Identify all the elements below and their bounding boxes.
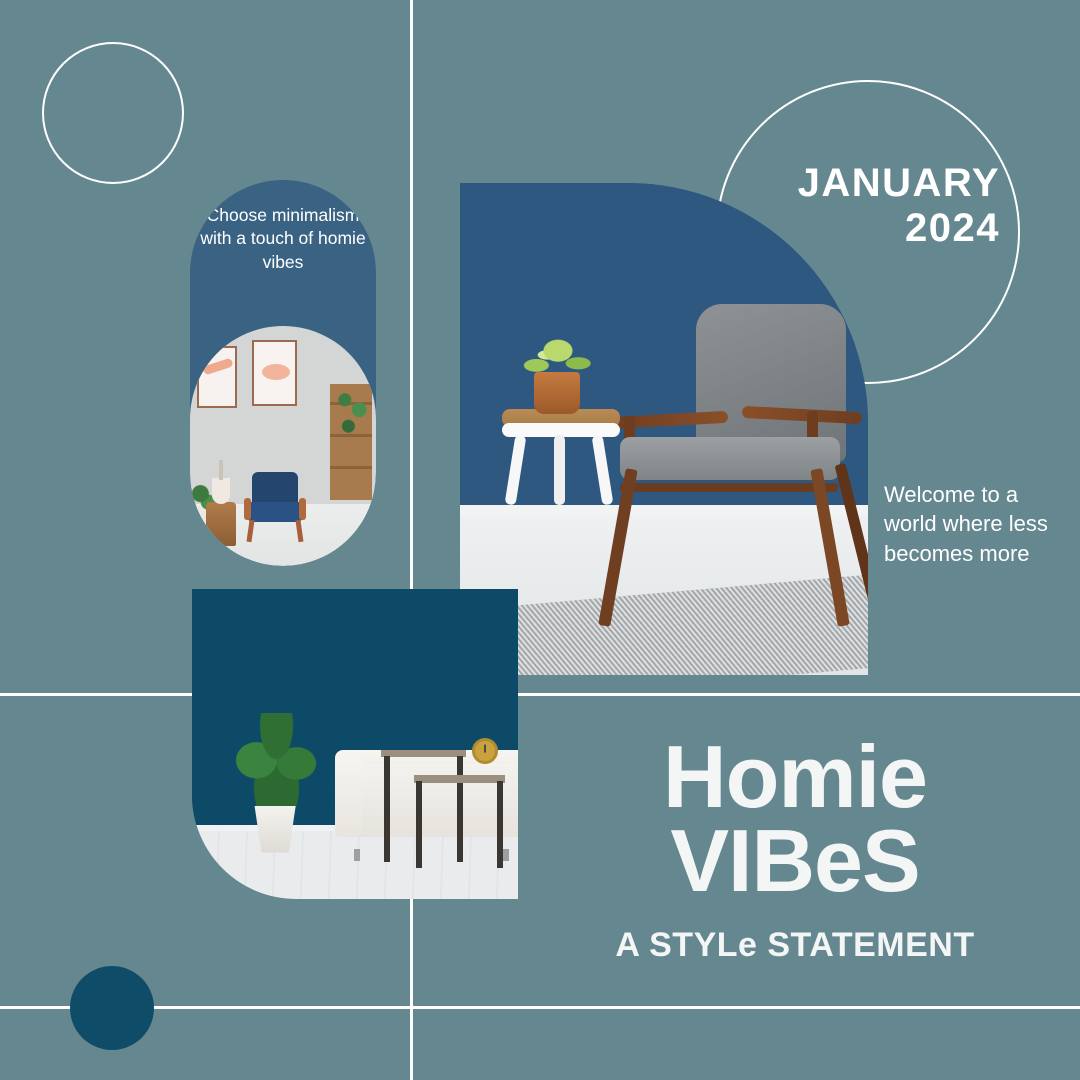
title-line-1: Homie <box>560 735 1030 819</box>
sofa-arm-left <box>335 752 361 837</box>
sofa-leg-left <box>354 849 360 861</box>
horizontal-divider-line-bottom <box>0 1006 1080 1009</box>
armchair-cushion <box>620 437 840 480</box>
armchair-leg-left <box>246 520 254 542</box>
stool-leg-1 <box>505 435 527 506</box>
flower-vase <box>212 478 230 504</box>
vertical-divider-line <box>410 0 413 1080</box>
nesting-table-front <box>414 775 505 862</box>
armchair-back <box>252 472 298 506</box>
potted-tree-icon <box>231 713 322 818</box>
decorative-circle-filled-bottom-left <box>70 966 154 1050</box>
tagline-pill-card: Choose minimalism with a touch of homie … <box>190 180 376 566</box>
table-leg-right <box>497 781 503 868</box>
stool-leg-2 <box>554 435 565 505</box>
grey-armchair <box>602 360 862 616</box>
table-top <box>414 775 505 783</box>
date-badge: JANUARY 2024 <box>760 163 1000 253</box>
table-top <box>381 750 466 757</box>
date-month: JANUARY <box>760 163 1000 203</box>
armchair-leg-right <box>295 520 303 542</box>
shelf-plant-icon <box>334 380 370 446</box>
wooden-stump-stool <box>206 502 236 546</box>
table-leg-left <box>416 781 422 868</box>
hero-photo-armchair <box>460 183 868 675</box>
table-leg-left <box>384 756 390 861</box>
welcome-message: Welcome to a world where less becomes mo… <box>884 480 1064 568</box>
wall-art-right <box>252 340 297 406</box>
horizontal-divider-line-middle <box>0 693 1080 696</box>
tagline-text: Choose minimalism with a touch of homie … <box>190 204 376 274</box>
decorative-circle-outline-top-left <box>42 42 184 184</box>
white-stool <box>502 409 620 527</box>
terracotta-pot <box>534 372 580 414</box>
armchair-seat <box>248 502 302 522</box>
armchair-arm-right <box>299 498 306 520</box>
pill-photo-living-room <box>190 326 376 566</box>
main-title-block: Homie VIBeS A STYLe STATEMENT <box>560 735 1030 965</box>
title-subtitle: A STYLe STATEMENT <box>560 926 1030 965</box>
wall-art-left <box>197 346 237 408</box>
blue-armchair <box>244 472 306 542</box>
date-year: 2024 <box>760 203 1000 253</box>
stool-leg-3 <box>592 435 614 506</box>
armchair-arm-left <box>244 498 251 520</box>
armchair-rail <box>620 483 838 492</box>
succulent-plant-icon <box>522 336 594 378</box>
title-line-2: VIBeS <box>560 819 1030 903</box>
sofa-photo-living-room <box>192 589 518 899</box>
